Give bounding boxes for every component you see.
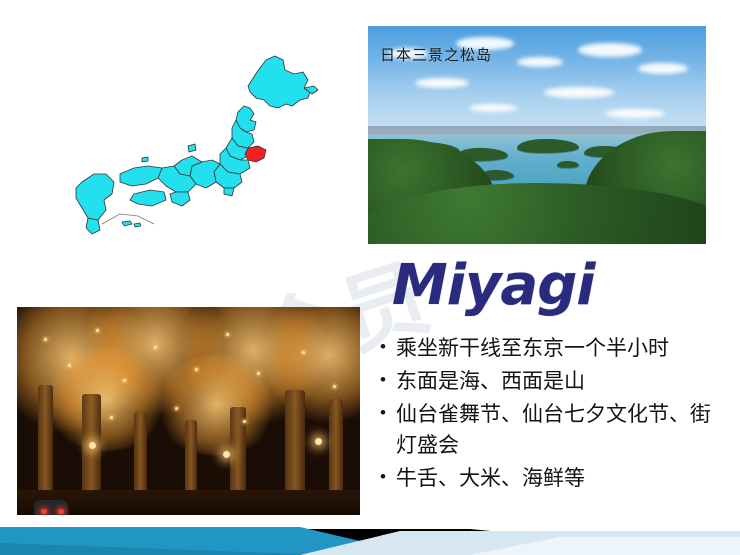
photo-matsushima: 日本三景之松岛	[368, 26, 706, 244]
list-item: • 牛舌、大米、海鲜等	[380, 464, 730, 494]
region-kiipeninsula	[170, 192, 190, 206]
street-lamp	[223, 451, 230, 458]
region-chugoku	[120, 166, 162, 186]
list-item: • 乘坐新干线至东京一个半小时	[380, 334, 730, 364]
region-okinawa	[122, 221, 141, 227]
region-shikoku	[130, 190, 166, 206]
island-oki	[142, 157, 148, 162]
bullet-marker-icon: •	[380, 367, 396, 393]
photo-caption-matsushima: 日本三景之松岛	[380, 44, 492, 65]
bullet-marker-icon: •	[380, 400, 396, 426]
japan-map-svg	[42, 42, 342, 262]
lit-canopy	[44, 346, 167, 451]
light-sparkle	[96, 329, 99, 332]
cloud	[605, 109, 665, 118]
cloud	[517, 57, 563, 67]
light-sparkle	[110, 416, 113, 419]
list-item-label: 东面是海、西面是山	[396, 367, 730, 397]
car	[34, 500, 68, 516]
region-miyagi-highlight	[245, 146, 266, 162]
region-hokkaido	[248, 56, 310, 108]
footer-decoration	[0, 515, 740, 555]
region-kyushu-south	[86, 218, 100, 234]
bullet-marker-icon: •	[380, 464, 396, 490]
japan-map	[42, 42, 342, 262]
list-item-label: 乘坐新干线至东京一个半小时	[396, 334, 730, 364]
light-sparkle	[302, 351, 305, 354]
photo-illumination	[17, 307, 360, 525]
footer-shapes-svg	[0, 515, 740, 555]
region-izu	[224, 188, 234, 196]
bullet-marker-icon: •	[380, 334, 396, 360]
region-kyushu	[76, 174, 114, 220]
lit-canopy	[154, 355, 277, 455]
island	[517, 139, 579, 153]
bullet-list: • 乘坐新干线至东京一个半小时 • 东面是海、西面是山 • 仙台雀舞节、仙台七夕…	[380, 334, 730, 497]
list-item: • 东面是海、西面是山	[380, 367, 730, 397]
page-title: Miyagi	[392, 258, 595, 314]
list-item-label: 牛舌、大米、海鲜等	[396, 464, 730, 494]
slide-canvas: 会员	[0, 0, 740, 555]
list-item: • 仙台雀舞节、仙台七夕文化节、街灯盛会	[380, 400, 730, 460]
cloud	[544, 87, 614, 98]
list-item-label: 仙台雀舞节、仙台七夕文化节、街灯盛会	[396, 400, 730, 460]
island-sado	[188, 144, 196, 152]
